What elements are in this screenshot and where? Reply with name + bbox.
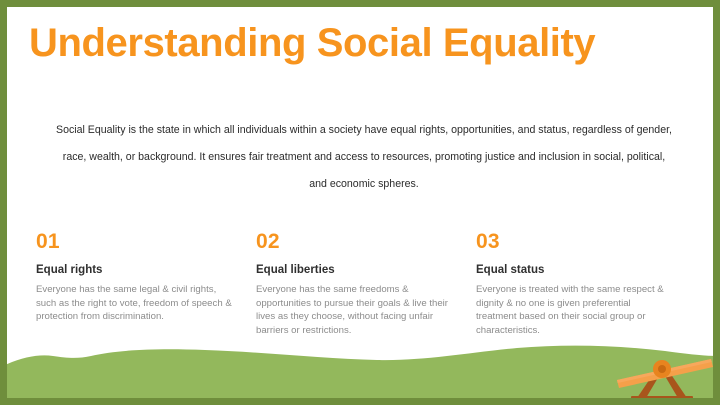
feature-column-2: 02 Equal liberties Everyone has the same… — [256, 229, 476, 337]
feature-body: Everyone has the same freedoms & opportu… — [256, 283, 452, 337]
slide-root: Understanding Social Equality Social Equ… — [0, 0, 720, 405]
slide-canvas: Understanding Social Equality Social Equ… — [7, 7, 713, 398]
feature-heading: Equal status — [476, 263, 672, 278]
page-title: Understanding Social Equality — [29, 19, 595, 67]
feature-number: 03 — [476, 229, 672, 254]
feature-column-3: 03 Equal status Everyone is treated with… — [476, 229, 696, 337]
feature-body: Everyone is treated with the same respec… — [476, 283, 672, 337]
intro-paragraph: Social Equality is the state in which al… — [53, 117, 675, 198]
feature-number: 01 — [36, 229, 232, 254]
green-hill-icon — [7, 339, 713, 398]
feature-columns: 01 Equal rights Everyone has the same le… — [36, 229, 696, 337]
feature-body: Everyone has the same legal & civil righ… — [36, 283, 232, 324]
feature-heading: Equal rights — [36, 263, 232, 278]
feature-column-1: 01 Equal rights Everyone has the same le… — [36, 229, 256, 337]
balance-scale-icon — [615, 351, 713, 398]
feature-heading: Equal liberties — [256, 263, 452, 278]
feature-number: 02 — [256, 229, 452, 254]
